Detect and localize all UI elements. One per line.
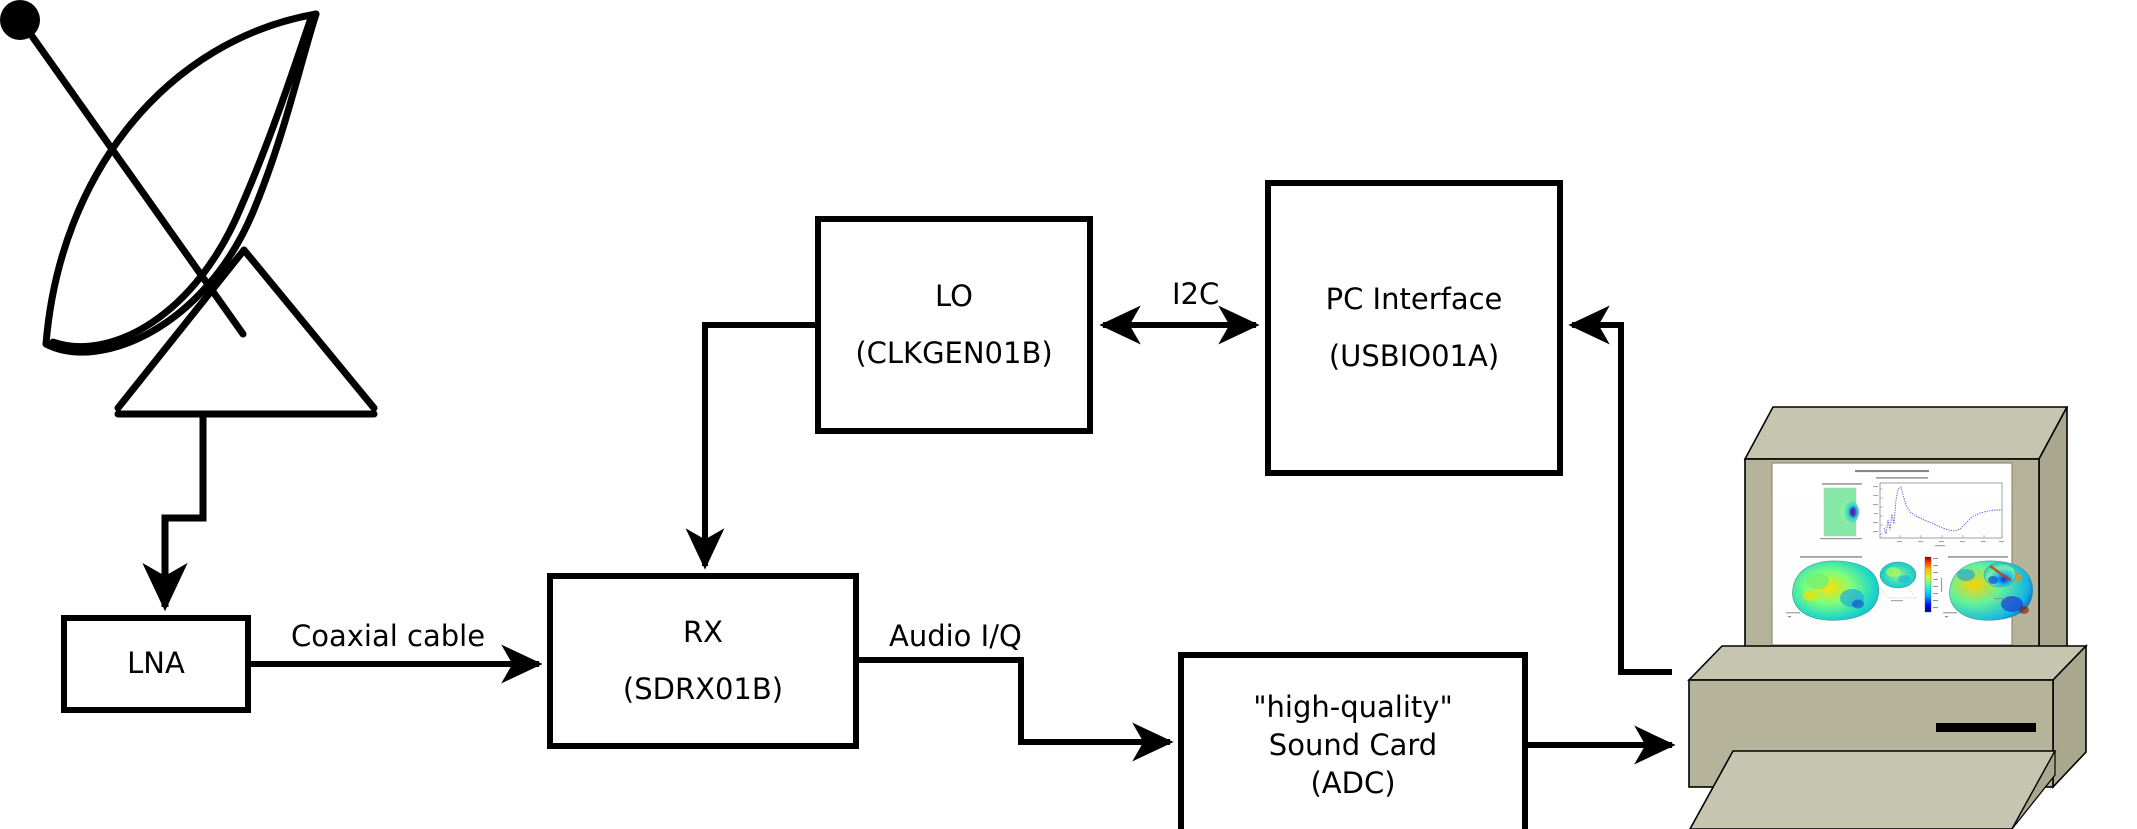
edge-antenna-to-lna	[165, 414, 203, 607]
diagram-svg	[0, 0, 2137, 829]
diagram-canvas: LNA RX (SDRX01B) LO (CLKGEN01B) PC Inter…	[0, 0, 2137, 829]
block-lna[interactable]	[64, 618, 248, 710]
screen-figure-subtitle	[1876, 477, 1928, 479]
edge-computer-to-pc-interface	[1572, 325, 1672, 672]
block-sound-card[interactable]	[1181, 655, 1525, 829]
screen-figure-title	[1855, 470, 1929, 472]
antenna-dish-icon	[22, 14, 374, 414]
keyboard-top	[1690, 751, 2055, 829]
edge-label-i2c: I2C	[1172, 277, 1219, 311]
block-pc-interface[interactable]	[1268, 183, 1560, 473]
edge-label-audio-iq: Audio I/Q	[889, 619, 1022, 653]
edge-lo-to-rx	[705, 325, 818, 566]
tower-top-bevel	[1689, 646, 2086, 680]
block-rx[interactable]	[550, 576, 856, 746]
antenna-feed-icon	[0, 0, 40, 40]
screen-panel4-label	[1948, 556, 2008, 558]
edge-rx-to-sound-card	[856, 660, 1170, 742]
screen-panel3-label	[1800, 556, 1862, 558]
block-lo[interactable]	[818, 219, 1090, 431]
screen-panel1-label	[1822, 483, 1862, 485]
tower-drive-slot	[1936, 723, 2036, 732]
monitor-top-bevel	[1745, 407, 2067, 459]
computer-illustration	[1689, 407, 2086, 829]
edge-label-coaxial-cable: Coaxial cable	[291, 619, 485, 653]
screen-delay-doppler-image	[1820, 488, 1862, 539]
